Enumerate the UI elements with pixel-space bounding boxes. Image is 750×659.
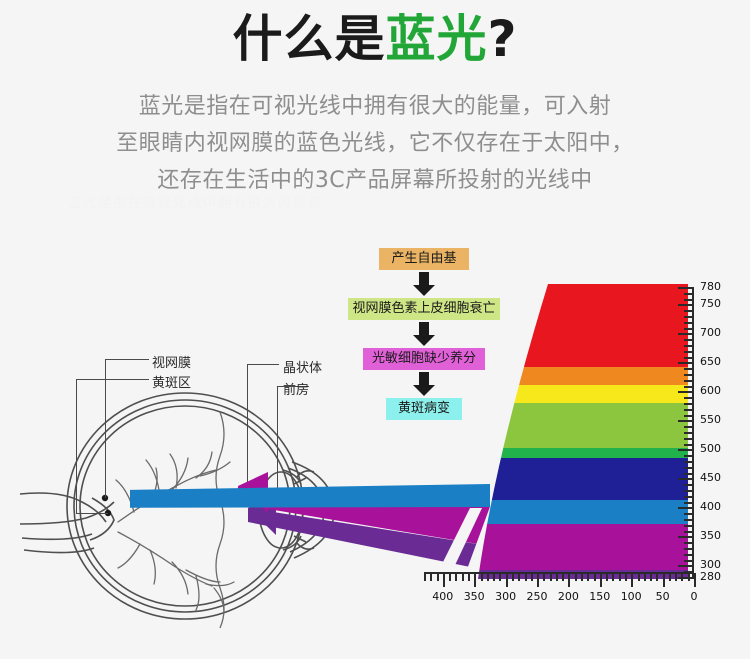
bottom-axis-minor-tick: [543, 573, 545, 581]
right-axis-minor-tick: [684, 316, 692, 318]
right-axis-major-tick: [678, 478, 694, 480]
bottom-axis-minor-tick: [669, 573, 671, 581]
bottom-axis-minor-tick: [430, 573, 432, 581]
bottom-axis-tick-label: 0: [679, 590, 709, 603]
bottom-axis-minor-tick: [499, 573, 501, 581]
bottom-axis-minor-tick: [455, 573, 457, 581]
bottom-axis-minor-tick: [644, 573, 646, 581]
title-text-lead: 什么是: [232, 10, 385, 68]
right-axis-minor-tick: [684, 531, 692, 533]
spectrum-band-blue: [478, 500, 688, 524]
spectrum-band-indigo: [478, 458, 688, 500]
right-axis-minor-tick: [684, 484, 692, 486]
bottom-axis-tick-label: 100: [616, 590, 646, 603]
right-axis-major-tick: [678, 287, 694, 289]
spectrum-band-red: [478, 284, 688, 367]
bottom-axis-minor-tick: [600, 573, 602, 587]
bottom-axis-minor-tick: [594, 573, 596, 581]
bottom-axis-minor-tick: [449, 573, 451, 581]
right-axis-tick-label: 280: [700, 570, 730, 583]
right-axis-minor-tick: [684, 357, 692, 359]
right-axis-rule: [692, 287, 694, 577]
bottom-axis-tick-label: 350: [459, 590, 489, 603]
bottom-axis-minor-tick: [675, 573, 677, 581]
bottom-axis-minor-tick: [587, 573, 589, 581]
bottom-axis-minor-tick: [568, 573, 570, 587]
right-axis-minor-tick: [684, 554, 692, 556]
right-axis-minor-tick: [684, 403, 692, 405]
spectrum-band-magenta: [478, 524, 688, 570]
right-axis-minor-tick: [684, 467, 692, 469]
flowchart-arrow-stem-2: [419, 322, 429, 335]
right-axis-major-tick: [678, 577, 694, 579]
right-axis-minor-tick: [684, 502, 692, 504]
right-axis-tick-label: 650: [700, 355, 730, 368]
right-axis-minor-tick: [684, 409, 692, 411]
right-axis-major-tick: [678, 507, 694, 509]
right-axis-minor-tick: [684, 345, 692, 347]
figure-section: 视网膜 黄斑区 晶状体 前房 高能蓝光 紫外线 短波紫外线: [0, 216, 750, 659]
right-axis-minor-tick: [684, 444, 692, 446]
right-axis-minor-tick: [684, 426, 692, 428]
bottom-axis-minor-tick: [531, 573, 533, 581]
spectrum-band-orange: [478, 367, 688, 385]
right-axis-tick-label: 600: [700, 384, 730, 397]
flowchart-step-3[interactable]: 光敏细胞缺少养分: [363, 348, 485, 370]
bottom-axis-minor-tick: [537, 573, 539, 587]
right-axis-minor-tick: [684, 455, 692, 457]
right-axis-tick-label: 400: [700, 500, 730, 513]
bottom-axis-minor-tick: [493, 573, 495, 581]
bottom-axis-minor-tick: [631, 573, 633, 587]
right-axis-minor-tick: [684, 473, 692, 475]
right-axis-minor-tick: [684, 519, 692, 521]
bottom-axis-minor-tick: [581, 573, 583, 581]
bottom-axis-minor-tick: [619, 573, 621, 581]
right-axis-minor-tick: [684, 380, 692, 382]
right-axis-minor-tick: [684, 299, 692, 301]
right-axis-minor-tick: [684, 542, 692, 544]
right-axis-minor-tick: [684, 310, 692, 312]
bottom-axis-minor-tick: [681, 573, 683, 581]
title-text-question-mark: ?: [487, 10, 517, 68]
right-axis-minor-tick: [684, 397, 692, 399]
right-axis-tick-label: 450: [700, 471, 730, 484]
bottom-axis-minor-tick: [474, 573, 476, 587]
bottom-axis-minor-tick: [443, 573, 445, 587]
bottom-axis-minor-tick: [481, 573, 483, 581]
page-title: 什么是蓝光?: [0, 8, 750, 70]
spectrum-bar-chart: [478, 284, 698, 604]
right-axis-major-tick: [678, 536, 694, 538]
flowchart-step-4[interactable]: 黄斑病变: [386, 398, 462, 420]
spectrum-band-yellow-green: [478, 403, 688, 448]
bottom-axis-minor-tick: [612, 573, 614, 581]
right-axis-minor-tick: [684, 490, 692, 492]
page-subtitle: 蓝光是指在可视光线中拥有很大的能量，可入射 至眼睛内视网膜的蓝色光线，它不仅存在…: [45, 88, 705, 199]
bottom-axis-minor-tick: [663, 573, 665, 587]
bottom-axis-minor-tick: [512, 573, 514, 581]
bottom-axis-minor-tick: [525, 573, 527, 581]
right-axis-major-tick: [678, 304, 694, 306]
bottom-axis-minor-tick: [506, 573, 508, 587]
right-axis-major-tick: [678, 362, 694, 364]
header-section: 什么是蓝光? 蓝光是指在可视光线中拥有很大的能量，可入射 至眼睛内视网膜的蓝色光…: [0, 0, 750, 216]
bottom-axis-minor-tick: [424, 573, 426, 581]
bottom-axis-minor-tick: [638, 573, 640, 581]
spectrum-band-yellow: [478, 385, 688, 403]
bottom-axis-minor-tick: [625, 573, 627, 581]
spectrum-band-green: [478, 448, 688, 458]
bottom-axis-minor-tick: [656, 573, 658, 581]
right-axis-major-tick: [678, 391, 694, 393]
right-axis-minor-tick: [684, 438, 692, 440]
right-axis-minor-tick: [684, 513, 692, 515]
right-axis-tick-label: 500: [700, 442, 730, 455]
flowchart-step-1[interactable]: 产生自由基: [379, 248, 469, 270]
subtitle-line-1: 蓝光是指在可视光线中拥有很大的能量，可入射: [45, 88, 705, 125]
right-axis-minor-tick: [684, 525, 692, 527]
right-axis-minor-tick: [684, 322, 692, 324]
right-axis-minor-tick: [684, 351, 692, 353]
right-axis-minor-tick: [684, 386, 692, 388]
right-axis-minor-tick: [684, 432, 692, 434]
bottom-axis-minor-tick: [556, 573, 558, 581]
right-axis-minor-tick: [684, 496, 692, 498]
right-axis-major-tick: [678, 449, 694, 451]
bottom-axis-minor-tick: [688, 573, 690, 581]
right-axis-minor-tick: [684, 328, 692, 330]
right-axis-minor-tick: [684, 560, 692, 562]
flowchart-arrow-head-2: [413, 335, 435, 346]
right-axis-minor-tick: [684, 293, 692, 295]
title-text-highlight: 蓝光: [385, 10, 487, 68]
right-axis-major-tick: [678, 565, 694, 567]
bottom-axis-tick-label: 200: [553, 590, 583, 603]
flowchart-arrow-stem-1: [419, 272, 429, 285]
right-axis-minor-tick: [684, 374, 692, 376]
right-axis-tick-label: 350: [700, 529, 730, 542]
right-axis-tick-label: 750: [700, 297, 730, 310]
bottom-axis-tick-label: 300: [491, 590, 521, 603]
bottom-axis-minor-tick: [437, 573, 439, 581]
bottom-axis-tick-label: 400: [428, 590, 458, 603]
faint-watermark-text: 蓝光是指在可视光线中拥有很大的能量: [68, 192, 468, 211]
bottom-axis-minor-tick: [487, 573, 489, 581]
flowchart-arrow-head-3: [413, 385, 435, 396]
flowchart-step-2[interactable]: 视网膜色素上皮细胞衰亡: [348, 298, 500, 320]
right-axis-tick-label: 550: [700, 413, 730, 426]
right-axis-minor-tick: [684, 415, 692, 417]
bottom-axis-rule: [424, 572, 694, 574]
bottom-axis-minor-tick: [694, 573, 696, 587]
right-axis-minor-tick: [684, 548, 692, 550]
subtitle-line-2: 至眼睛内视网膜的蓝色光线，它不仅存在于太阳中，: [45, 125, 705, 162]
macula-leader-line-v: [76, 379, 77, 513]
infographic-page: 什么是蓝光? 蓝光是指在可视光线中拥有很大的能量，可入射 至眼睛内视网膜的蓝色光…: [0, 0, 750, 659]
right-axis-minor-tick: [684, 339, 692, 341]
right-axis-minor-tick: [684, 368, 692, 370]
bottom-axis-tick-label: 150: [585, 590, 615, 603]
macula-leader-line-h2: [76, 513, 108, 514]
bottom-axis-minor-tick: [606, 573, 608, 581]
spectrum-bands: [478, 284, 688, 579]
bottom-axis-minor-tick: [462, 573, 464, 581]
bottom-axis-minor-tick: [468, 573, 470, 581]
flowchart-arrow-head-1: [413, 285, 435, 296]
right-axis-tick-label: 780: [700, 280, 730, 293]
right-axis-major-tick: [678, 420, 694, 422]
bottom-axis-tick-label: 50: [648, 590, 678, 603]
bottom-axis-tick-label: 250: [522, 590, 552, 603]
bottom-axis-minor-tick: [518, 573, 520, 581]
bottom-axis-minor-tick: [550, 573, 552, 581]
right-axis-major-tick: [678, 333, 694, 335]
right-axis-tick-label: 700: [700, 326, 730, 339]
bottom-axis-minor-tick: [575, 573, 577, 581]
bottom-axis-minor-tick: [650, 573, 652, 581]
flowchart-arrow-stem-3: [419, 372, 429, 385]
bottom-axis-minor-tick: [562, 573, 564, 581]
right-axis-minor-tick: [684, 461, 692, 463]
